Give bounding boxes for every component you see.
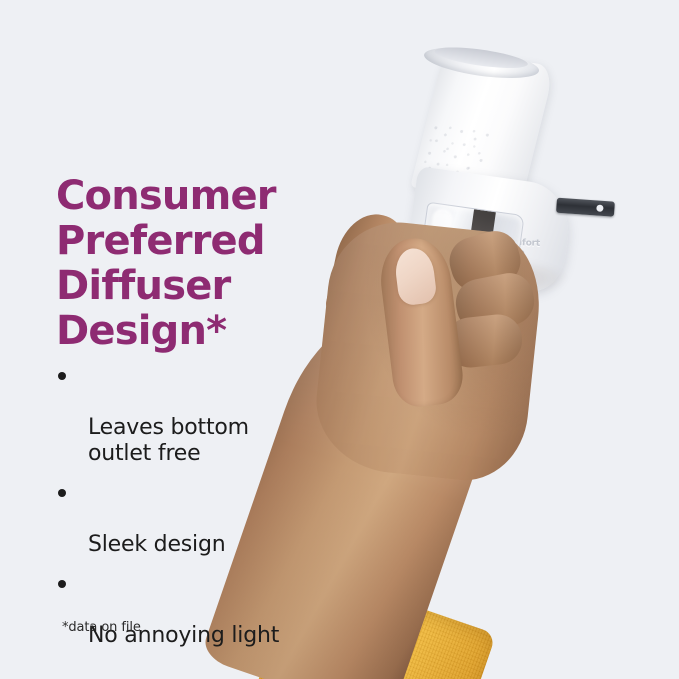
thumbnail bbox=[393, 246, 438, 306]
footnote: *data on file bbox=[62, 620, 141, 635]
prong-hole bbox=[596, 204, 603, 211]
bullet-dot-icon bbox=[58, 489, 66, 497]
page-title: Consumer Preferred Diffuser Design* bbox=[56, 174, 356, 354]
list-item: No annoying light bbox=[52, 571, 352, 649]
marketing-image-canvas: Comfort Zone bbox=[0, 0, 679, 679]
list-item: Leaves bottom outlet free bbox=[52, 363, 352, 467]
bullet-dot-icon bbox=[58, 372, 66, 380]
bullet-dot-icon bbox=[58, 580, 66, 588]
benefit-list: Leaves bottom outlet free Sleek design N… bbox=[52, 363, 352, 649]
list-item-label: Sleek design bbox=[88, 532, 225, 557]
product-photo: Comfort Zone bbox=[300, 0, 679, 679]
list-item: Sleek design bbox=[52, 480, 352, 558]
diffuser-top-opening bbox=[434, 43, 529, 72]
list-item-label: Leaves bottom outlet free bbox=[88, 415, 249, 466]
